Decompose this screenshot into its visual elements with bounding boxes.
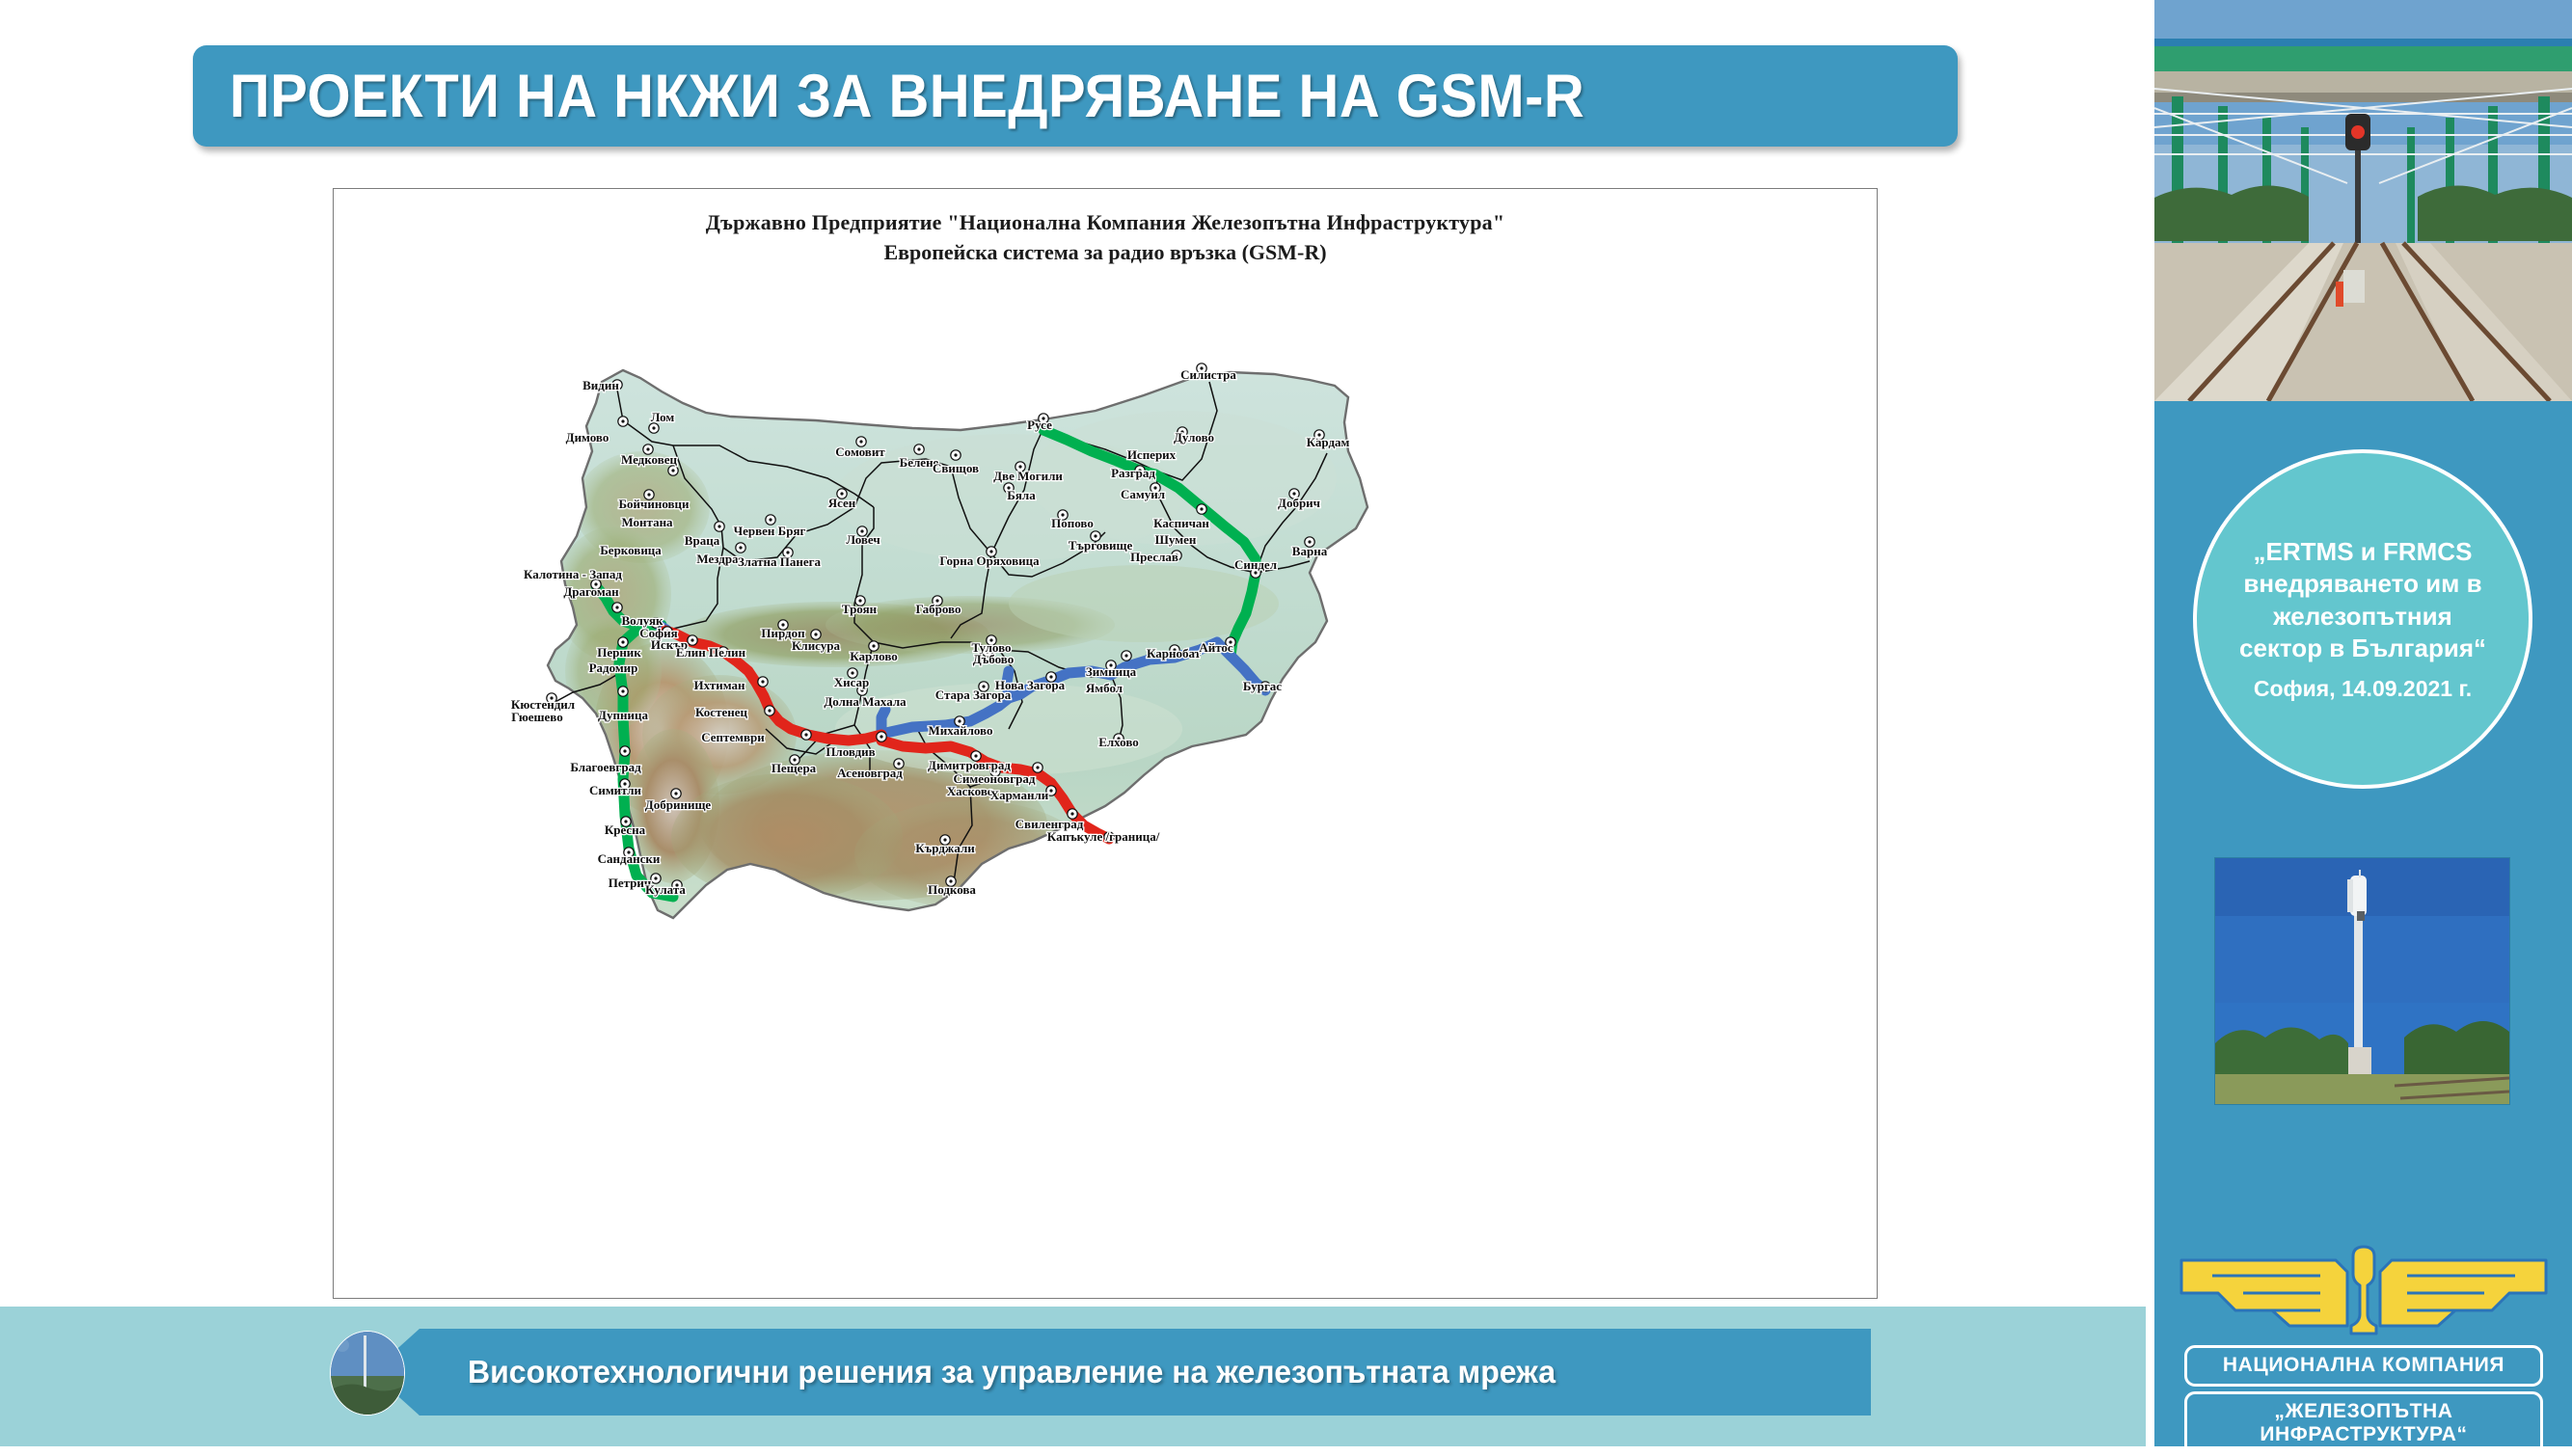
city-label: Благоевград <box>570 760 641 774</box>
logo-line-1: НАЦИОНАЛНА КОМПАНИЯ <box>2184 1345 2543 1387</box>
city-label: Кaпъкуле /граница/ <box>1047 829 1160 844</box>
railway-tracks-photo <box>2154 0 2572 401</box>
city-label: Бургас <box>1243 679 1282 693</box>
city-label: Свищов <box>933 461 979 475</box>
city-label: Перник <box>597 645 641 660</box>
city-label: Ясен <box>828 496 856 510</box>
city-label: Монтана <box>621 515 673 529</box>
city-label: Димитровград <box>928 758 1011 772</box>
city-label: Сандански <box>598 851 661 866</box>
city-label: Добринище <box>645 797 712 812</box>
city-label: Костенец <box>695 705 747 719</box>
city-label: Елхово <box>1098 735 1139 749</box>
city-label: Преслав <box>1130 550 1178 564</box>
city-label: Хисар <box>834 675 870 689</box>
city-label: Варна <box>1292 544 1328 558</box>
city-label: Ловеч <box>846 532 880 547</box>
map-panel: Държавно Предприятие "Национална Компани… <box>333 188 1878 1299</box>
city-label: Лом <box>651 410 675 424</box>
city-label: Михайлово <box>929 723 993 738</box>
right-rail-brand-block: „ERTMS и FRMCS внедряването им в железоп… <box>2154 401 2572 1224</box>
city-label: Берковица <box>600 543 662 557</box>
city-label: Септември <box>701 730 765 744</box>
city-label: Димово <box>566 430 609 445</box>
footer-ribbon-text: Високотехнологични решения за управление… <box>468 1329 1556 1416</box>
city-label: Враца <box>685 533 720 548</box>
city-label: Троян <box>842 602 878 616</box>
event-quote: „ERTMS и FRMCS внедряването им в железоп… <box>2239 536 2486 664</box>
right-rail: „ERTMS и FRMCS внедряването им в железоп… <box>2154 0 2572 1446</box>
city-label: Драгоман <box>563 584 619 599</box>
city-label: Харманли <box>990 788 1049 802</box>
city-label: Русе <box>1027 418 1052 432</box>
city-label: Айтос <box>1199 640 1233 655</box>
city-label: Клисура <box>792 638 841 653</box>
city-label: Дупница <box>598 708 648 722</box>
city-label: Червен Бряг <box>734 524 806 538</box>
city-label: Карлово <box>850 649 898 663</box>
city-label: Мездра <box>696 552 739 566</box>
city-label: Каспичан <box>1153 516 1209 530</box>
footer-ribbon: Високотехнологични решения за управление… <box>318 1329 1871 1416</box>
gsmr-tower-photo <box>2214 857 2510 1105</box>
city-label: Ямбол <box>1086 681 1123 695</box>
city-label: Габрово <box>916 602 961 616</box>
page-title: ПРОЕКТИ НА НКЖИ ЗА ВНЕДРЯВАНЕ НА GSM-R <box>230 62 1584 131</box>
winged-rail-icon <box>2176 1243 2552 1339</box>
bulgaria-map: ВидинЛомДимовоМедковецБойчиновциМонтанаБ… <box>334 189 1877 1298</box>
city-label: Търговище <box>1069 538 1133 553</box>
city-label: Исперих <box>1127 447 1177 462</box>
city-label: Шумен <box>1155 532 1197 547</box>
city-label: Самуил <box>1121 487 1165 501</box>
city-label: Медковец <box>621 452 678 467</box>
city-label: Карнобат <box>1147 646 1202 661</box>
event-badge: „ERTMS и FRMCS внедряването им в железоп… <box>2193 449 2532 789</box>
city-label: Синдел <box>1234 557 1277 572</box>
city-label: Две Могили <box>993 469 1063 483</box>
city-label: Хасково <box>947 784 994 798</box>
city-label: Сомовит <box>835 445 885 459</box>
nkzhi-logo: НАЦИОНАЛНА КОМПАНИЯ „ЖЕЛЕЗОПЪТНА ИНФРАСТ… <box>2176 1243 2552 1436</box>
city-label: Видин <box>582 378 619 392</box>
city-label: Добрич <box>1278 496 1320 510</box>
city-label: Зимница <box>1086 664 1137 679</box>
slide-title-bar: ПРОЕКТИ НА НКЖИ ЗА ВНЕДРЯВАНЕ НА GSM-R <box>193 45 1958 147</box>
city-label: Разград <box>1111 466 1155 480</box>
city-label: Дулово <box>1174 430 1214 445</box>
city-label: Златна Панега <box>738 554 822 569</box>
city-label: Елин Пелин <box>676 645 746 660</box>
event-date: София, 14.09.2021 г. <box>2254 676 2472 702</box>
city-label: Ихтиман <box>694 678 745 692</box>
city-label: Асеновград <box>837 766 903 780</box>
city-label: Гюешево <box>511 710 563 724</box>
city-label: Бойчиновци <box>618 497 690 511</box>
city-label: Нова Загора <box>995 678 1066 692</box>
city-label: Пловдив <box>826 744 875 759</box>
slide-root: ПРОЕКТИ НА НКЖИ ЗА ВНЕДРЯВАНЕ НА GSM-R Д… <box>0 0 2572 1446</box>
right-rail-logo-block: НАЦИОНАЛНА КОМПАНИЯ „ЖЕЛЕЗОПЪТНА ИНФРАСТ… <box>2154 1224 2572 1446</box>
city-label: Калотина - Запад <box>524 567 622 581</box>
city-label: Горна Оряховица <box>939 553 1040 568</box>
city-label: Симитли <box>589 783 642 797</box>
city-label: Дъбово <box>973 652 1014 666</box>
city-label: Кърджали <box>915 841 975 855</box>
city-label: Кулата <box>645 882 686 897</box>
city-label: Бяла <box>1007 488 1036 502</box>
city-label: Долна Махала <box>824 694 907 709</box>
city-label: Попово <box>1051 516 1094 530</box>
city-label: Кардам <box>1307 435 1350 449</box>
city-label: Кресна <box>605 822 646 837</box>
catenary-photo-thumb <box>330 1331 405 1416</box>
city-label: Пещера <box>772 761 817 775</box>
city-label: Подкова <box>928 882 976 897</box>
city-label: Радомир <box>589 661 638 675</box>
city-label: Силистра <box>1180 367 1236 382</box>
